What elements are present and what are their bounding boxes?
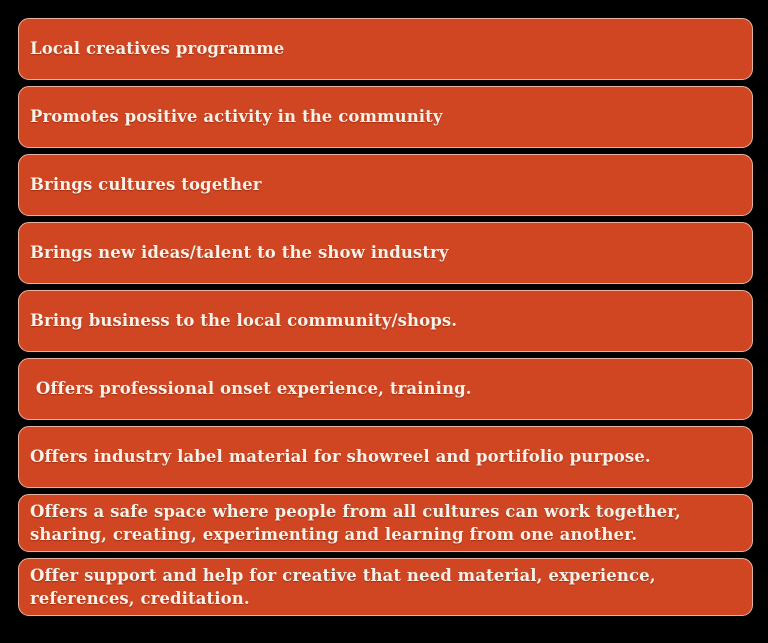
bullet-card[interactable]: Offers industry label material for showr… [18, 426, 753, 488]
bullet-card-label: Brings new ideas/talent to the show indu… [30, 242, 449, 264]
bullet-card[interactable]: Offers a safe space where people from al… [18, 494, 753, 552]
bullet-card-label: Offers professional onset experience, tr… [30, 378, 472, 400]
bullet-card-label: Promotes positive activity in the commun… [30, 106, 443, 128]
bullet-card-label: Offers a safe space where people from al… [30, 500, 740, 546]
bullet-card[interactable]: Bring business to the local community/sh… [18, 290, 753, 352]
bullet-card-list: Local creatives programme Promotes posit… [18, 18, 753, 616]
bullet-card-label: Brings cultures together [30, 174, 262, 196]
slide-canvas: Local creatives programme Promotes posit… [0, 0, 768, 643]
bullet-card-label: Bring business to the local community/sh… [30, 310, 457, 332]
bullet-card[interactable]: Local creatives programme [18, 18, 753, 80]
bullet-card-label: Local creatives programme [30, 38, 284, 60]
bullet-card-label: Offers industry label material for showr… [30, 446, 651, 468]
bullet-card[interactable]: Promotes positive activity in the commun… [18, 86, 753, 148]
bullet-card[interactable]: Offer support and help for creative that… [18, 558, 753, 616]
bullet-card[interactable]: Offers professional onset experience, tr… [18, 358, 753, 420]
bullet-card[interactable]: Brings new ideas/talent to the show indu… [18, 222, 753, 284]
bullet-card-label: Offer support and help for creative that… [30, 564, 740, 610]
bullet-card[interactable]: Brings cultures together [18, 154, 753, 216]
